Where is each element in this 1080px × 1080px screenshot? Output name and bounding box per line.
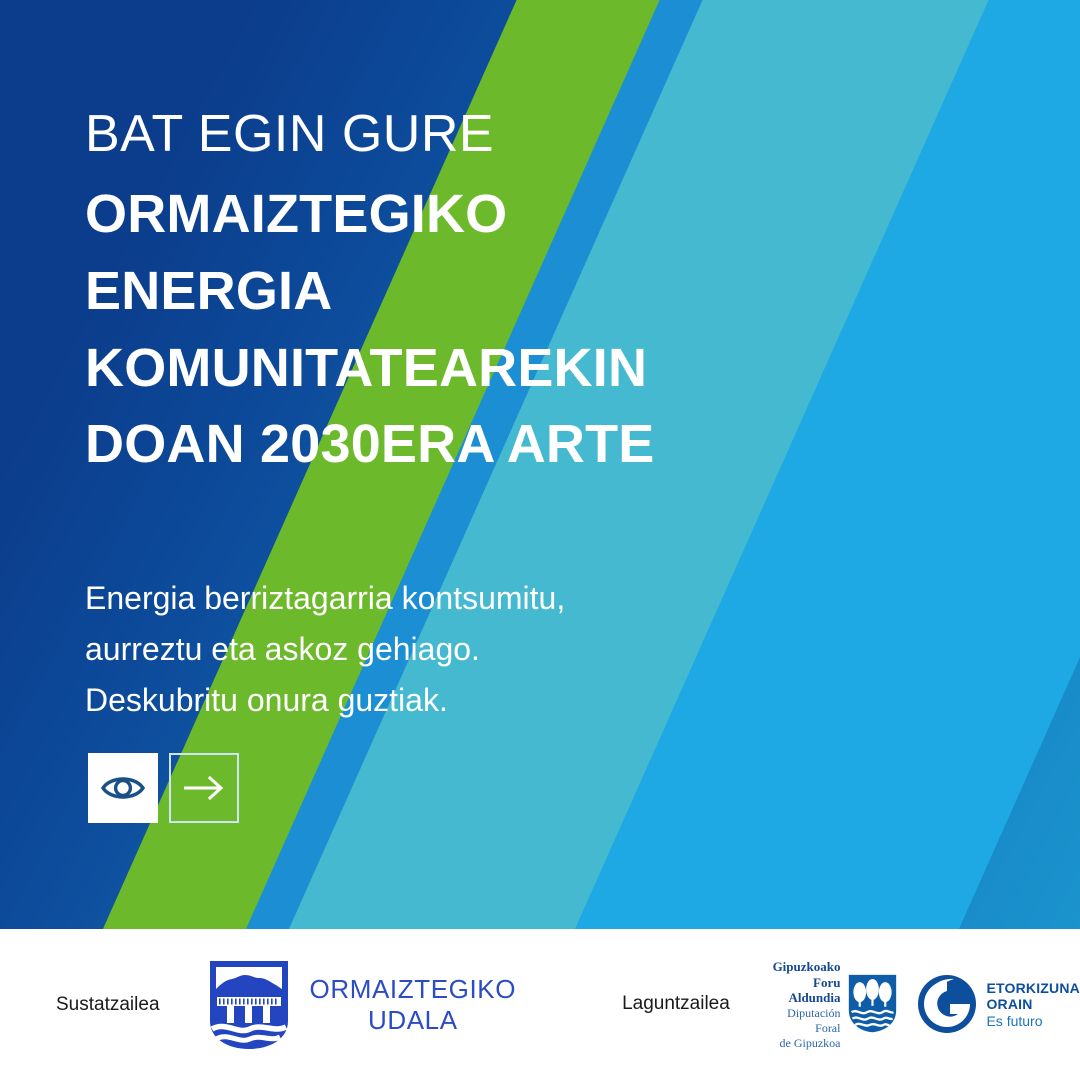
eye-button[interactable] [88, 753, 158, 823]
gipuzkoa-wordmark: Gipuzkoako Foru Aldundia Diputación Fora… [766, 959, 841, 1050]
promoter-group: Sustatzailea [56, 959, 516, 1051]
etorkizuna-line-1: ETORKIZUNA [986, 980, 1080, 996]
udala-wordmark-line-2: UDALA [310, 1005, 517, 1036]
gipuzkoa-foru-aldundia-logo[interactable]: Gipuzkoako Foru Aldundia Diputación Fora… [766, 959, 899, 1050]
ormaiztegi-shield-icon [206, 959, 292, 1051]
etorkizuna-g-icon [916, 973, 978, 1035]
supporter-label: Laguntzailea [622, 993, 730, 1015]
subcopy-text: Energia berriztagarria kontsumitu, aurre… [85, 573, 725, 727]
etorkizuna-orain-logo[interactable]: ETORKIZUNA ORAIN Es futuro [916, 973, 1080, 1035]
subcopy-line-2: aurreztu eta askoz gehiago. [85, 624, 725, 675]
ormaiztegiko-udala-logo[interactable]: ORMAIZTEGIKO UDALA [206, 959, 517, 1051]
subcopy-line-1: Energia berriztagarria kontsumitu, [85, 573, 725, 624]
headline-line-3: KOMUNITATEAREKIN [85, 330, 785, 407]
udala-wordmark-line-1: ORMAIZTEGIKO [310, 974, 517, 1005]
etorkizuna-wordmark: ETORKIZUNA ORAIN Es futuro [986, 980, 1080, 1029]
promoter-label: Sustatzailea [56, 994, 160, 1016]
next-button[interactable] [169, 753, 239, 823]
eyebrow-text: BAT EGIN GURE [85, 104, 785, 164]
poster-canvas: BAT EGIN GURE ORMAIZTEGIKO ENERGIA KOMUN… [0, 0, 1080, 1080]
headline-line-1: ORMAIZTEGIKO [85, 176, 785, 253]
headline-block: BAT EGIN GURE ORMAIZTEGIKO ENERGIA KOMUN… [85, 104, 785, 483]
etorkizuna-line-2: ORAIN [986, 996, 1080, 1012]
subcopy-line-3: Deskubritu onura guztiak. [85, 675, 725, 726]
headline-line-4: DOAN 2030ERA ARTE [85, 406, 785, 483]
etorkizuna-line-3: Es futuro [986, 1013, 1080, 1029]
gipuzkoa-line-3: Diputación Foral [766, 1006, 841, 1035]
udala-wordmark: ORMAIZTEGIKO UDALA [310, 974, 517, 1035]
gipuzkoa-crest-icon [847, 971, 898, 1037]
supporter-group: Laguntzailea Gipuzkoako Foru Aldundia Di… [622, 959, 1080, 1050]
page-title: ORMAIZTEGIKO ENERGIA KOMUNITATEAREKIN DO… [85, 176, 785, 483]
gipuzkoa-line-2: Foru Aldundia [766, 975, 841, 1007]
eye-icon [99, 771, 147, 805]
gipuzkoa-line-1: Gipuzkoako [766, 959, 841, 975]
gipuzkoa-line-4: de Gipuzkoa [766, 1036, 841, 1051]
footer-bar: Sustatzailea [0, 929, 1080, 1080]
hero-panel: BAT EGIN GURE ORMAIZTEGIKO ENERGIA KOMUN… [0, 0, 1080, 929]
action-buttons [88, 753, 239, 823]
arrow-right-icon [181, 775, 227, 801]
headline-line-2: ENERGIA [85, 253, 785, 330]
